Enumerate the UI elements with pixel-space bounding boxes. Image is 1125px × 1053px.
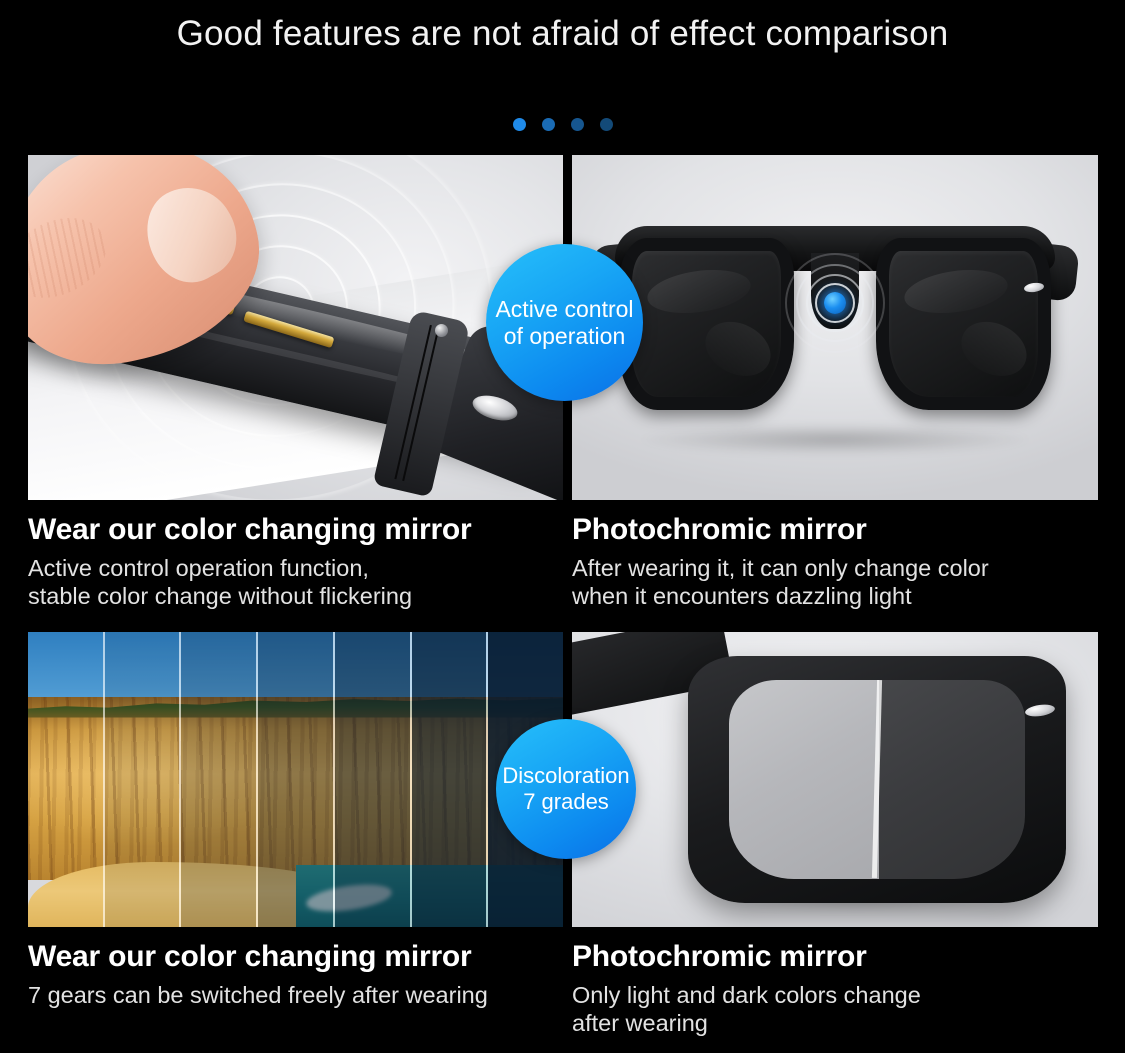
badge-line-2: 7 grades <box>523 789 609 815</box>
tint-grade-band-5 <box>335 632 412 927</box>
tint-grade-band-2 <box>105 632 182 927</box>
card-title: Wear our color changing mirror <box>28 940 563 974</box>
badge-line-1: Discoloration <box>502 763 629 789</box>
card-subtitle-line-2: stable color change without flickering <box>28 583 563 611</box>
lens-right <box>876 238 1051 411</box>
feature-card-bottom-right: Photochromic mirror Only light and dark … <box>572 632 1098 1037</box>
blue-signal-ripple-icon <box>780 248 890 358</box>
tint-grade-band-6 <box>412 632 489 927</box>
feature-card-top-right: Photochromic mirror After wearing it, it… <box>572 155 1098 610</box>
card-subtitle: After wearing it, it can only change col… <box>572 555 1098 610</box>
badge-line-2: of operation <box>504 323 625 350</box>
card-subtitle-line-2: after wearing <box>572 1010 1098 1038</box>
feature-card-top-left: Wear our color changing mirror Active co… <box>28 155 563 610</box>
glasses-frame-closeup <box>688 656 1067 904</box>
card-title: Photochromic mirror <box>572 940 1098 974</box>
pager-dot-1[interactable] <box>513 118 526 131</box>
half-tint-lens-photo <box>572 632 1098 927</box>
tint-grade-band-1 <box>28 632 105 927</box>
hinge-screw <box>435 324 448 337</box>
pager-dot-3[interactable] <box>571 118 584 131</box>
tint-grade-band-3 <box>181 632 258 927</box>
badge-active-control: Active control of operation <box>486 244 643 401</box>
carousel-pager[interactable] <box>0 114 1125 134</box>
card-subtitle-line-1: After wearing it, it can only change col… <box>572 555 1098 583</box>
fingernail <box>130 171 252 296</box>
pager-dot-4[interactable] <box>600 118 613 131</box>
card-subtitle-line-1: Active control operation function, <box>28 555 563 583</box>
card-subtitle-line-1: Only light and dark colors change <box>572 982 1098 1010</box>
promo-page: Good features are not afraid of effect c… <box>0 0 1125 1053</box>
lens-left <box>619 238 794 411</box>
tint-grade-band-4 <box>258 632 335 927</box>
sunglasses-front-photo <box>572 155 1098 500</box>
split-tint-lens <box>729 680 1024 878</box>
frame-rivet <box>1024 703 1055 718</box>
card-subtitle: 7 gears can be switched freely after wea… <box>28 982 563 1010</box>
lens-dark-half <box>879 680 1025 878</box>
card-subtitle: Active control operation function, stabl… <box>28 555 563 610</box>
badge-discoloration-grades: Discoloration 7 grades <box>496 719 636 859</box>
page-title: Good features are not afraid of effect c… <box>0 14 1125 54</box>
pager-dot-2[interactable] <box>542 118 555 131</box>
card-title: Photochromic mirror <box>572 513 1098 547</box>
product-shadow <box>635 424 1035 455</box>
card-subtitle: Only light and dark colors change after … <box>572 982 1098 1037</box>
card-subtitle-line-2: when it encounters dazzling light <box>572 583 1098 611</box>
seven-grades-photo <box>28 632 563 927</box>
black-sunglasses <box>619 238 1050 411</box>
card-title: Wear our color changing mirror <box>28 513 563 547</box>
touch-control-photo <box>28 155 563 500</box>
feature-card-bottom-left: Wear our color changing mirror 7 gears c… <box>28 632 563 1010</box>
tint-grade-bands <box>28 632 563 927</box>
card-subtitle-line-1: 7 gears can be switched freely after wea… <box>28 982 563 1010</box>
lens-light-half <box>729 680 878 878</box>
badge-line-1: Active control <box>495 296 633 323</box>
